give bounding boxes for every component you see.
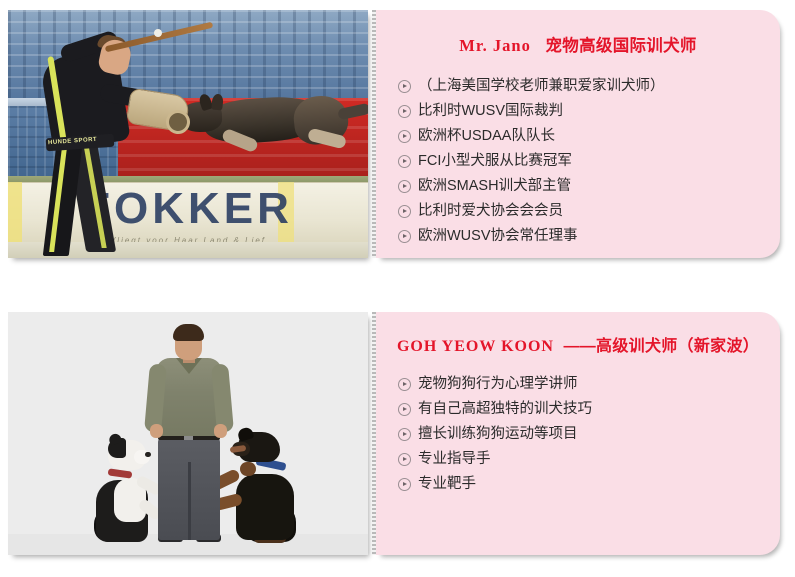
list-item: 擅长训练狗狗运动等项目: [398, 422, 780, 447]
dog-ear-right: [211, 93, 224, 110]
panel-title-1: Mr. Jano 宠物高级国际训犬师: [376, 10, 780, 56]
credentials-list-2: 宠物狗狗行为心理学讲师 有自己高超独特的训犬技巧 擅长训练狗狗运动等项目 专业指…: [376, 356, 780, 497]
list-item: 有自己高超独特的训犬技巧: [398, 397, 780, 422]
list-item: 欧洲WUSV协会常任理事: [398, 224, 780, 249]
play-circle-bullet-icon: [398, 403, 411, 416]
trainer-hand-right: [214, 424, 227, 438]
play-circle-bullet-icon: [398, 155, 411, 168]
panel-title-latin: GOH YEOW KOON: [397, 338, 554, 355]
list-item-label: 欧洲WUSV协会常任理事: [418, 224, 578, 249]
play-circle-bullet-icon: [398, 130, 411, 143]
list-item: （上海美国学校老师兼职爱家训犬师）: [398, 74, 780, 99]
play-circle-bullet-icon: [398, 428, 411, 441]
trainer-profile-panel-2: GOH YEOW KOON ——高级训犬师（新家波） 宠物狗狗行为心理学讲师 有…: [376, 312, 780, 555]
list-item: 欧洲杯USDAA队队长: [398, 124, 780, 149]
panel-title-cn: ——高级训犬师（新家波）: [563, 338, 759, 355]
list-item: 比利时爱犬协会会会员: [398, 199, 780, 224]
list-item: 专业指导手: [398, 447, 780, 472]
profile-section-2: GOH YEOW KOON ——高级训犬师（新家波） 宠物狗狗行为心理学讲师 有…: [0, 290, 795, 577]
list-item-label: 欧洲SMASH训犬部主管: [418, 174, 571, 199]
trainer-hair: [173, 324, 204, 341]
profile-section-1: FOKKER Vliegt voor Haar Land & Lief HUND…: [0, 0, 795, 290]
left-dog-nose: [145, 452, 151, 457]
list-item: FCI小型犬服从比赛冠军: [398, 149, 780, 174]
list-item-label: （上海美国学校老师兼职爱家训犬师）: [418, 74, 665, 99]
list-item-label: 专业指导手: [418, 447, 491, 472]
play-circle-bullet-icon: [398, 180, 411, 193]
list-item-label: 宠物狗狗行为心理学讲师: [418, 372, 578, 397]
panel-title-2: GOH YEOW KOON ——高级训犬师（新家波）: [376, 312, 780, 356]
dog-protection-training-photo: FOKKER Vliegt voor Haar Land & Lief HUND…: [8, 10, 368, 258]
stick-tip: [154, 29, 162, 37]
list-item-label: FCI小型犬服从比赛冠军: [418, 149, 572, 174]
list-item: 比利时WUSV国际裁判: [398, 99, 780, 124]
list-item-label: 比利时爱犬协会会会员: [418, 199, 563, 224]
trainer-with-two-dogs-photo: [8, 312, 368, 555]
right-dog-body: [236, 474, 294, 540]
trainer-hand-left: [150, 424, 163, 438]
right-dog-tan-marking: [240, 462, 256, 476]
play-circle-bullet-icon: [398, 378, 411, 391]
list-item: 专业靶手: [398, 472, 780, 497]
credentials-list-1: （上海美国学校老师兼职爱家训犬师） 比利时WUSV国际裁判 欧洲杯USDAA队队…: [376, 56, 780, 249]
play-circle-bullet-icon: [398, 105, 411, 118]
list-item-label: 擅长训练狗狗运动等项目: [418, 422, 578, 447]
list-item-label: 欧洲杯USDAA队队长: [418, 124, 555, 149]
panel-title-latin: Mr. Jano: [459, 36, 531, 55]
play-circle-bullet-icon: [398, 478, 411, 491]
list-item: 欧洲SMASH训犬部主管: [398, 174, 780, 199]
list-item: 宠物狗狗行为心理学讲师: [398, 372, 780, 397]
list-item-label: 有自己高超独特的训犬技巧: [418, 397, 592, 422]
trainer-profile-panel-1: Mr. Jano 宠物高级国际训犬师 （上海美国学校老师兼职爱家训犬师） 比利时…: [376, 10, 780, 258]
panel-title-cn: 宠物高级国际训犬师: [546, 37, 697, 55]
trouser-seam: [188, 462, 191, 540]
play-circle-bullet-icon: [398, 80, 411, 93]
play-circle-bullet-icon: [398, 230, 411, 243]
play-circle-bullet-icon: [398, 205, 411, 218]
list-item-label: 专业靶手: [418, 472, 476, 497]
list-item-label: 比利时WUSV国际裁判: [418, 99, 563, 124]
play-circle-bullet-icon: [398, 453, 411, 466]
